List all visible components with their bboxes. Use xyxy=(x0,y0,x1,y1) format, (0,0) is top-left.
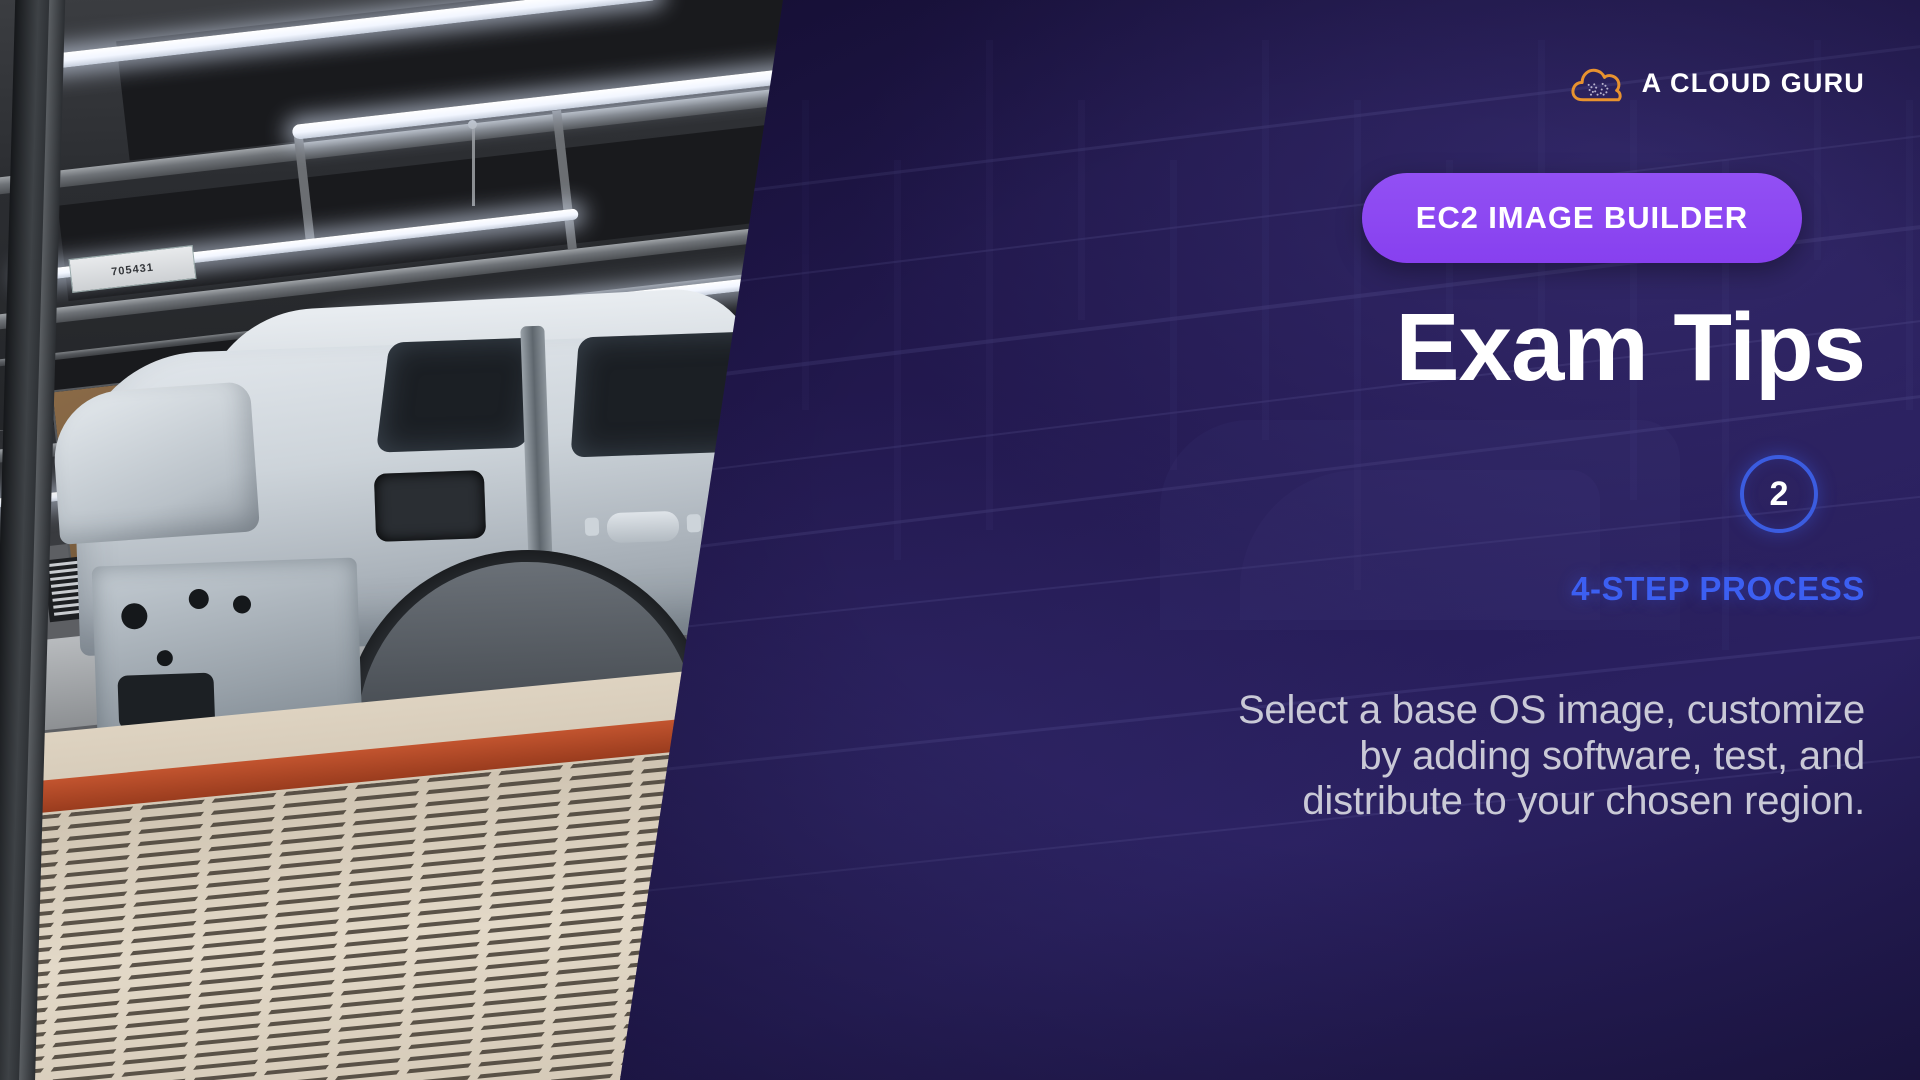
page-title: Exam Tips xyxy=(665,300,1865,396)
bay-hole xyxy=(233,595,252,614)
bay-hole xyxy=(157,650,174,667)
description-line: by adding software, test, and xyxy=(1105,734,1865,780)
hanging-chain xyxy=(472,128,475,206)
step-label: 4-STEP PROCESS xyxy=(665,570,1865,608)
service-badge-pill[interactable]: EC2 IMAGE BUILDER xyxy=(1362,173,1802,263)
slide-root: 705431 SKYLE xyxy=(0,0,1920,1080)
description-line: distribute to your chosen region. xyxy=(1105,779,1865,825)
description-line: Select a base OS image, customize xyxy=(1105,688,1865,734)
brand-lockup[interactable]: A CLOUD GURU xyxy=(1570,62,1865,104)
bay-hole xyxy=(121,603,148,630)
bay-hole xyxy=(188,589,209,610)
cloud-icon xyxy=(1570,62,1626,104)
step-number: 2 xyxy=(1770,477,1789,511)
panel-content: A CLOUD GURU EC2 IMAGE BUILDER Exam Tips… xyxy=(620,0,1920,1080)
description-text: Select a base OS image, customize by add… xyxy=(1105,688,1865,825)
brand-name: A CLOUD GURU xyxy=(1642,68,1865,99)
service-badge-label: EC2 IMAGE BUILDER xyxy=(1416,200,1748,236)
step-number-badge: 2 xyxy=(1740,455,1818,533)
car-hood xyxy=(50,381,260,545)
light-hanger xyxy=(468,120,477,129)
car-window-front xyxy=(376,337,540,452)
car-door-cutout xyxy=(374,470,486,542)
